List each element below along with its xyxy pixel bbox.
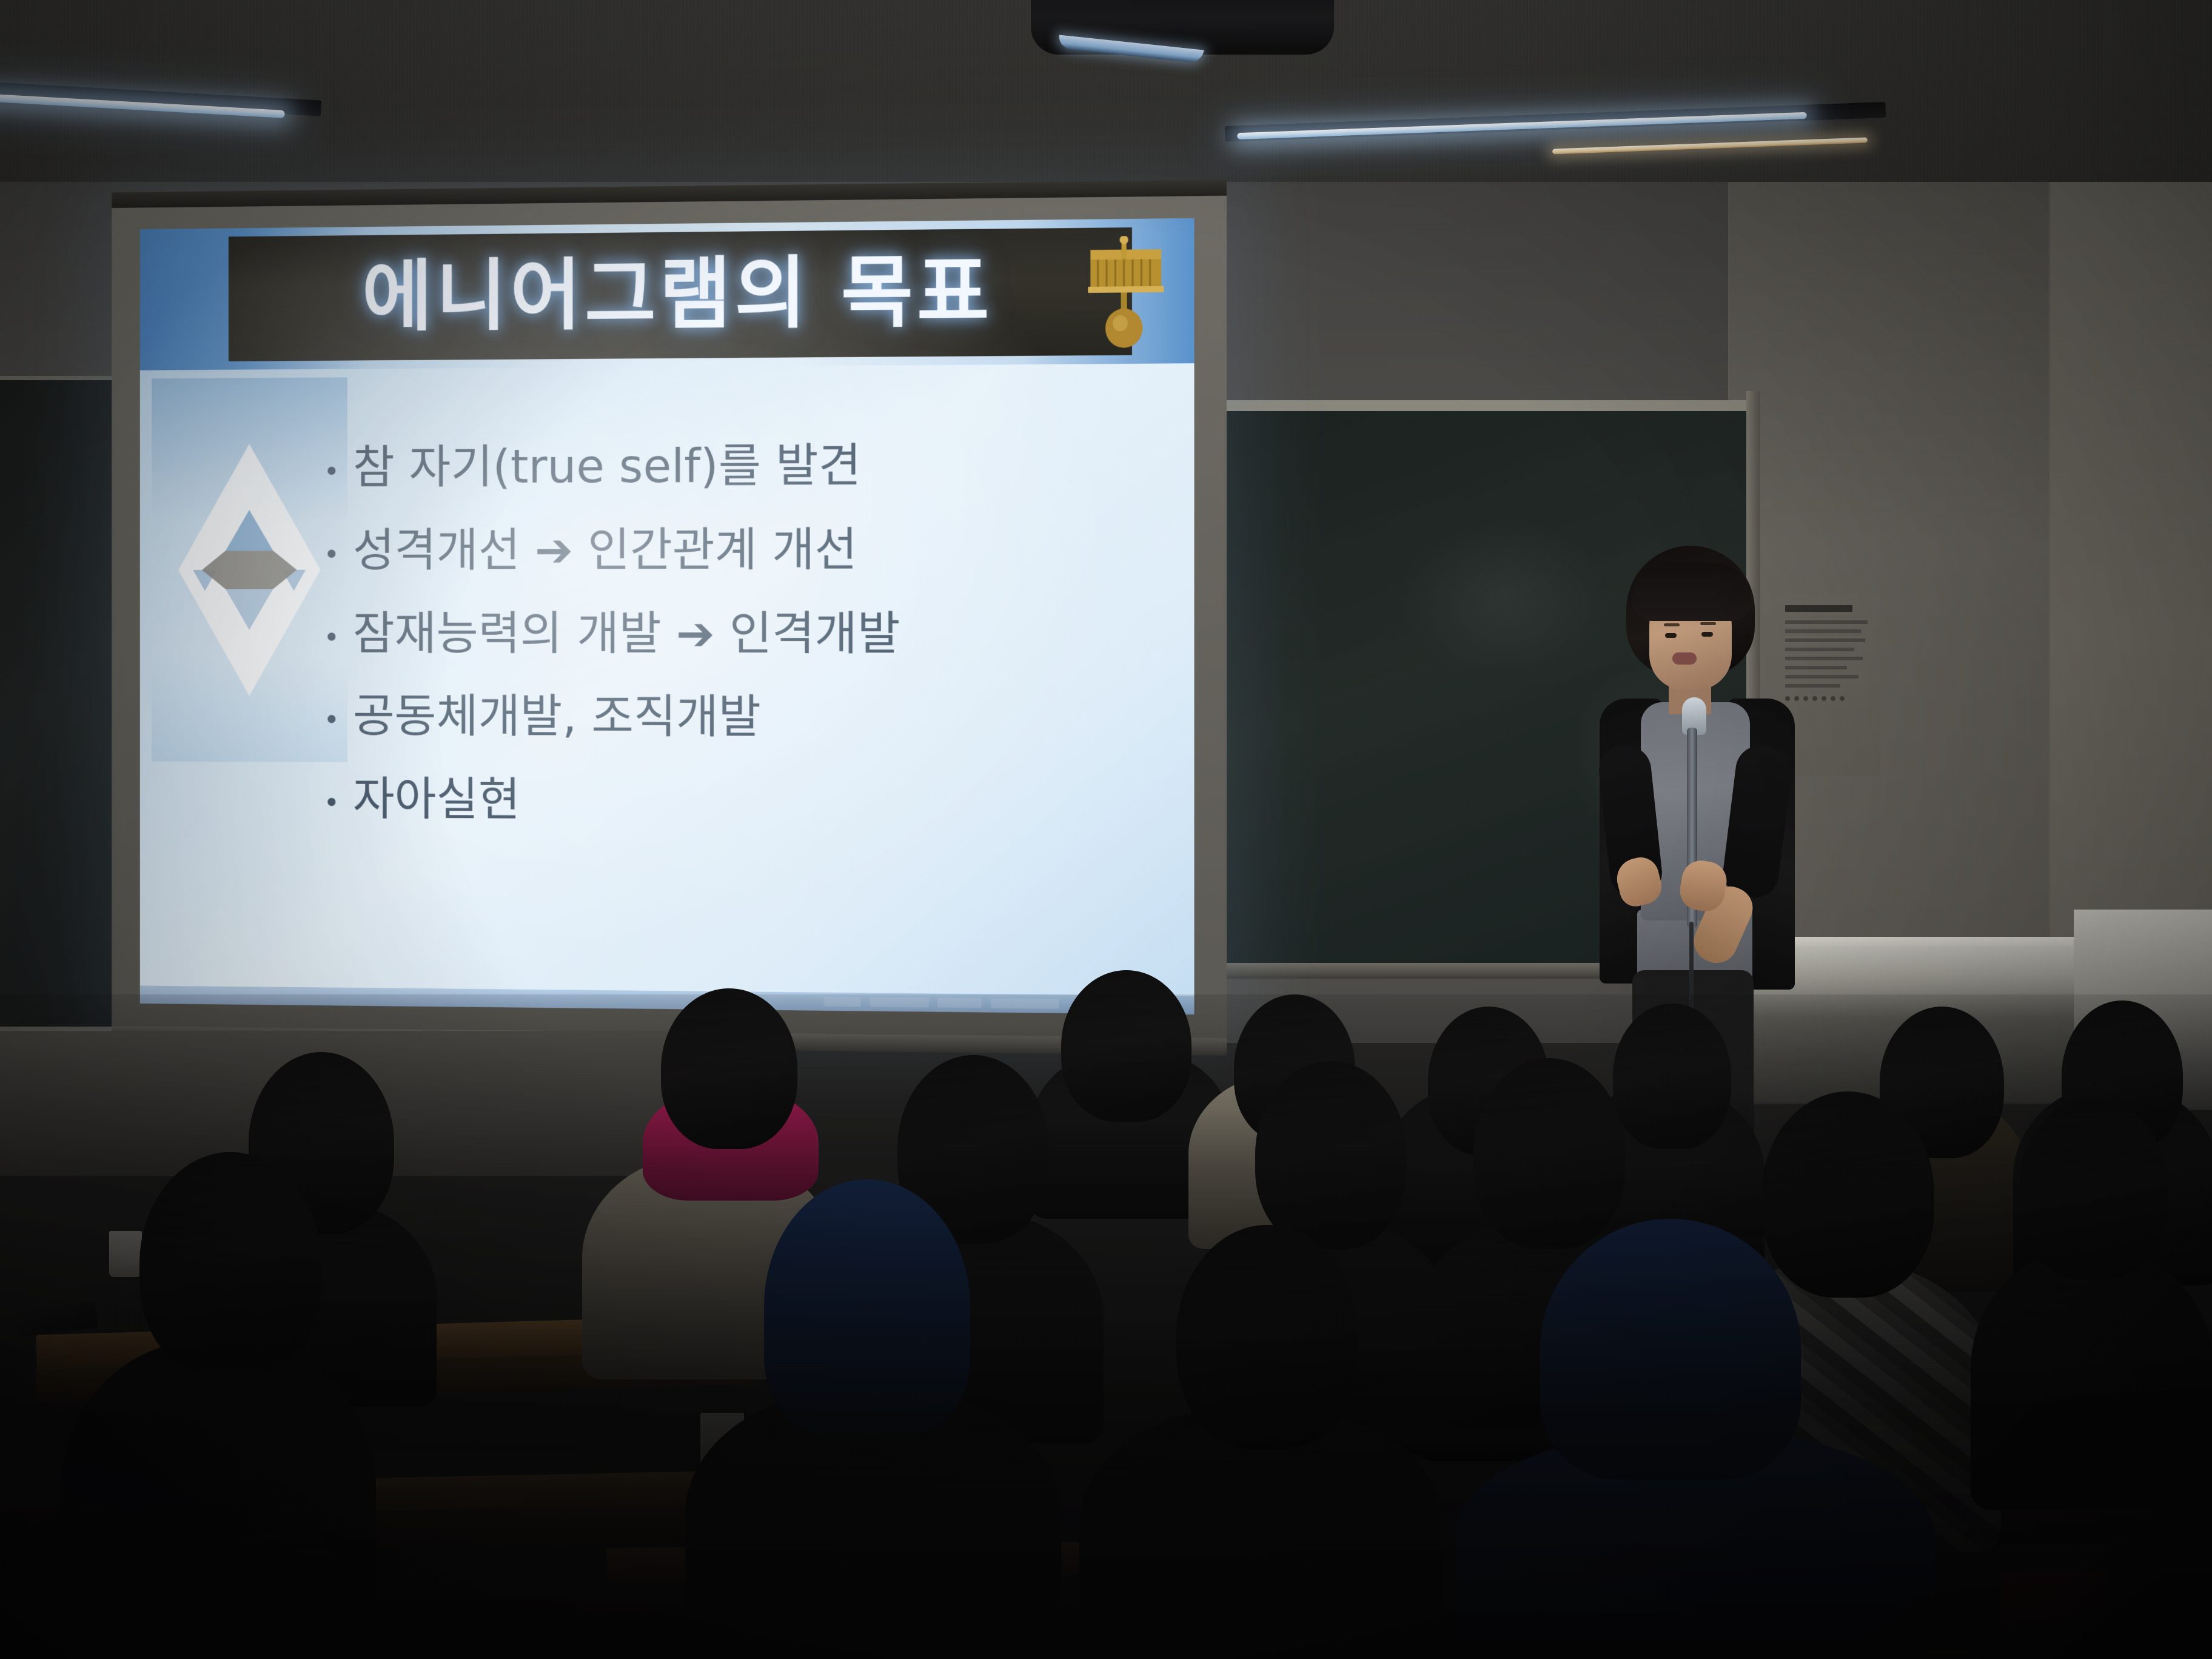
notice-dot — [1840, 696, 1845, 701]
bullet-dot-icon: • — [324, 541, 340, 569]
audience-member-head — [1473, 1058, 1625, 1249]
bullet-text: 잠재능력의 개발 ➔ 인격개발 — [353, 609, 900, 658]
audience-member-head — [1255, 1061, 1407, 1249]
taskbar-item — [824, 997, 861, 1007]
screenshot-root: 에니어그램의 목표 — [0, 0, 2212, 1659]
gold-crown-ornament-icon — [1079, 236, 1173, 354]
slide-bullet-item: • 성격개선 ➔ 인간관계 개선 — [324, 525, 1164, 574]
presenter-eye-right — [1701, 632, 1713, 637]
hexagram-motif-panel — [152, 377, 347, 762]
slide-title-bar: 에니어그램의 목표 — [229, 227, 1132, 361]
audience-member-shoulders — [1971, 1249, 2212, 1510]
audience-member-head — [2019, 1098, 2168, 1279]
chalkboard-left — [0, 376, 115, 1031]
presenter-eye-left — [1665, 633, 1677, 638]
audience-member-head — [1613, 1004, 1731, 1149]
audience-member-head — [1176, 1225, 1358, 1449]
presenter-brow-left — [1664, 623, 1680, 626]
bullet-dot-icon: • — [324, 623, 340, 651]
projected-taskbar — [140, 985, 1195, 1014]
taskbar-item — [991, 998, 1059, 1008]
slide-bullet-item: • 참 자기(true self)를 발견 — [324, 440, 1164, 492]
slide-bullet-item: • 자아실현 — [324, 775, 1164, 828]
red-object — [2001, 1570, 2107, 1628]
mobile-phone — [17, 1302, 98, 1337]
taskbar-item — [870, 997, 929, 1007]
blue-puffer-hood — [1540, 1219, 1801, 1480]
bullet-text: 공동체개발, 조직개발 — [353, 692, 761, 741]
projection-screen: 에니어그램의 목표 — [112, 191, 1227, 1044]
bullet-text: 참 자기(true self)를 발견 — [353, 441, 861, 491]
audience-member-head — [1761, 1091, 1934, 1298]
audience-member-head — [661, 988, 797, 1149]
bullet-text: 자아실현 — [353, 775, 520, 824]
audience-member-hood — [764, 1179, 970, 1434]
bullet-text: 성격개선 ➔ 인간관계 개선 — [353, 525, 857, 574]
presenter-hair-fringe — [1632, 563, 1751, 621]
bullet-dot-icon: • — [324, 789, 340, 817]
presenter-brow-right — [1700, 622, 1716, 625]
notice-dot — [1831, 696, 1835, 701]
notice-dot — [1822, 696, 1826, 701]
slide-bullet-item: • 잠재능력의 개발 ➔ 인격개발 — [324, 609, 1164, 658]
paper-cup — [109, 1231, 142, 1277]
audience-member-head — [139, 1152, 321, 1376]
notice-dot — [1812, 696, 1817, 701]
lecture-desk — [1928, 1649, 2212, 1659]
taskbar-item — [937, 998, 982, 1008]
audience-member-head — [73, 1413, 249, 1589]
bullet-dot-icon: • — [324, 458, 340, 486]
presenter-mouth — [1672, 652, 1697, 665]
presentation-slide: 에니어그램의 목표 — [140, 218, 1195, 1014]
slide-bullet-item: • 공동체개발, 조직개발 — [324, 692, 1164, 743]
audience-member-head — [1061, 970, 1191, 1122]
hexagram-star-icon — [152, 420, 347, 702]
bullet-dot-icon: • — [324, 706, 340, 734]
slide-bullet-list: • 참 자기(true self)를 발견 • 성격개선 ➔ 인간관계 개선 •… — [324, 440, 1164, 863]
slide-title: 에니어그램의 목표 — [362, 253, 993, 337]
